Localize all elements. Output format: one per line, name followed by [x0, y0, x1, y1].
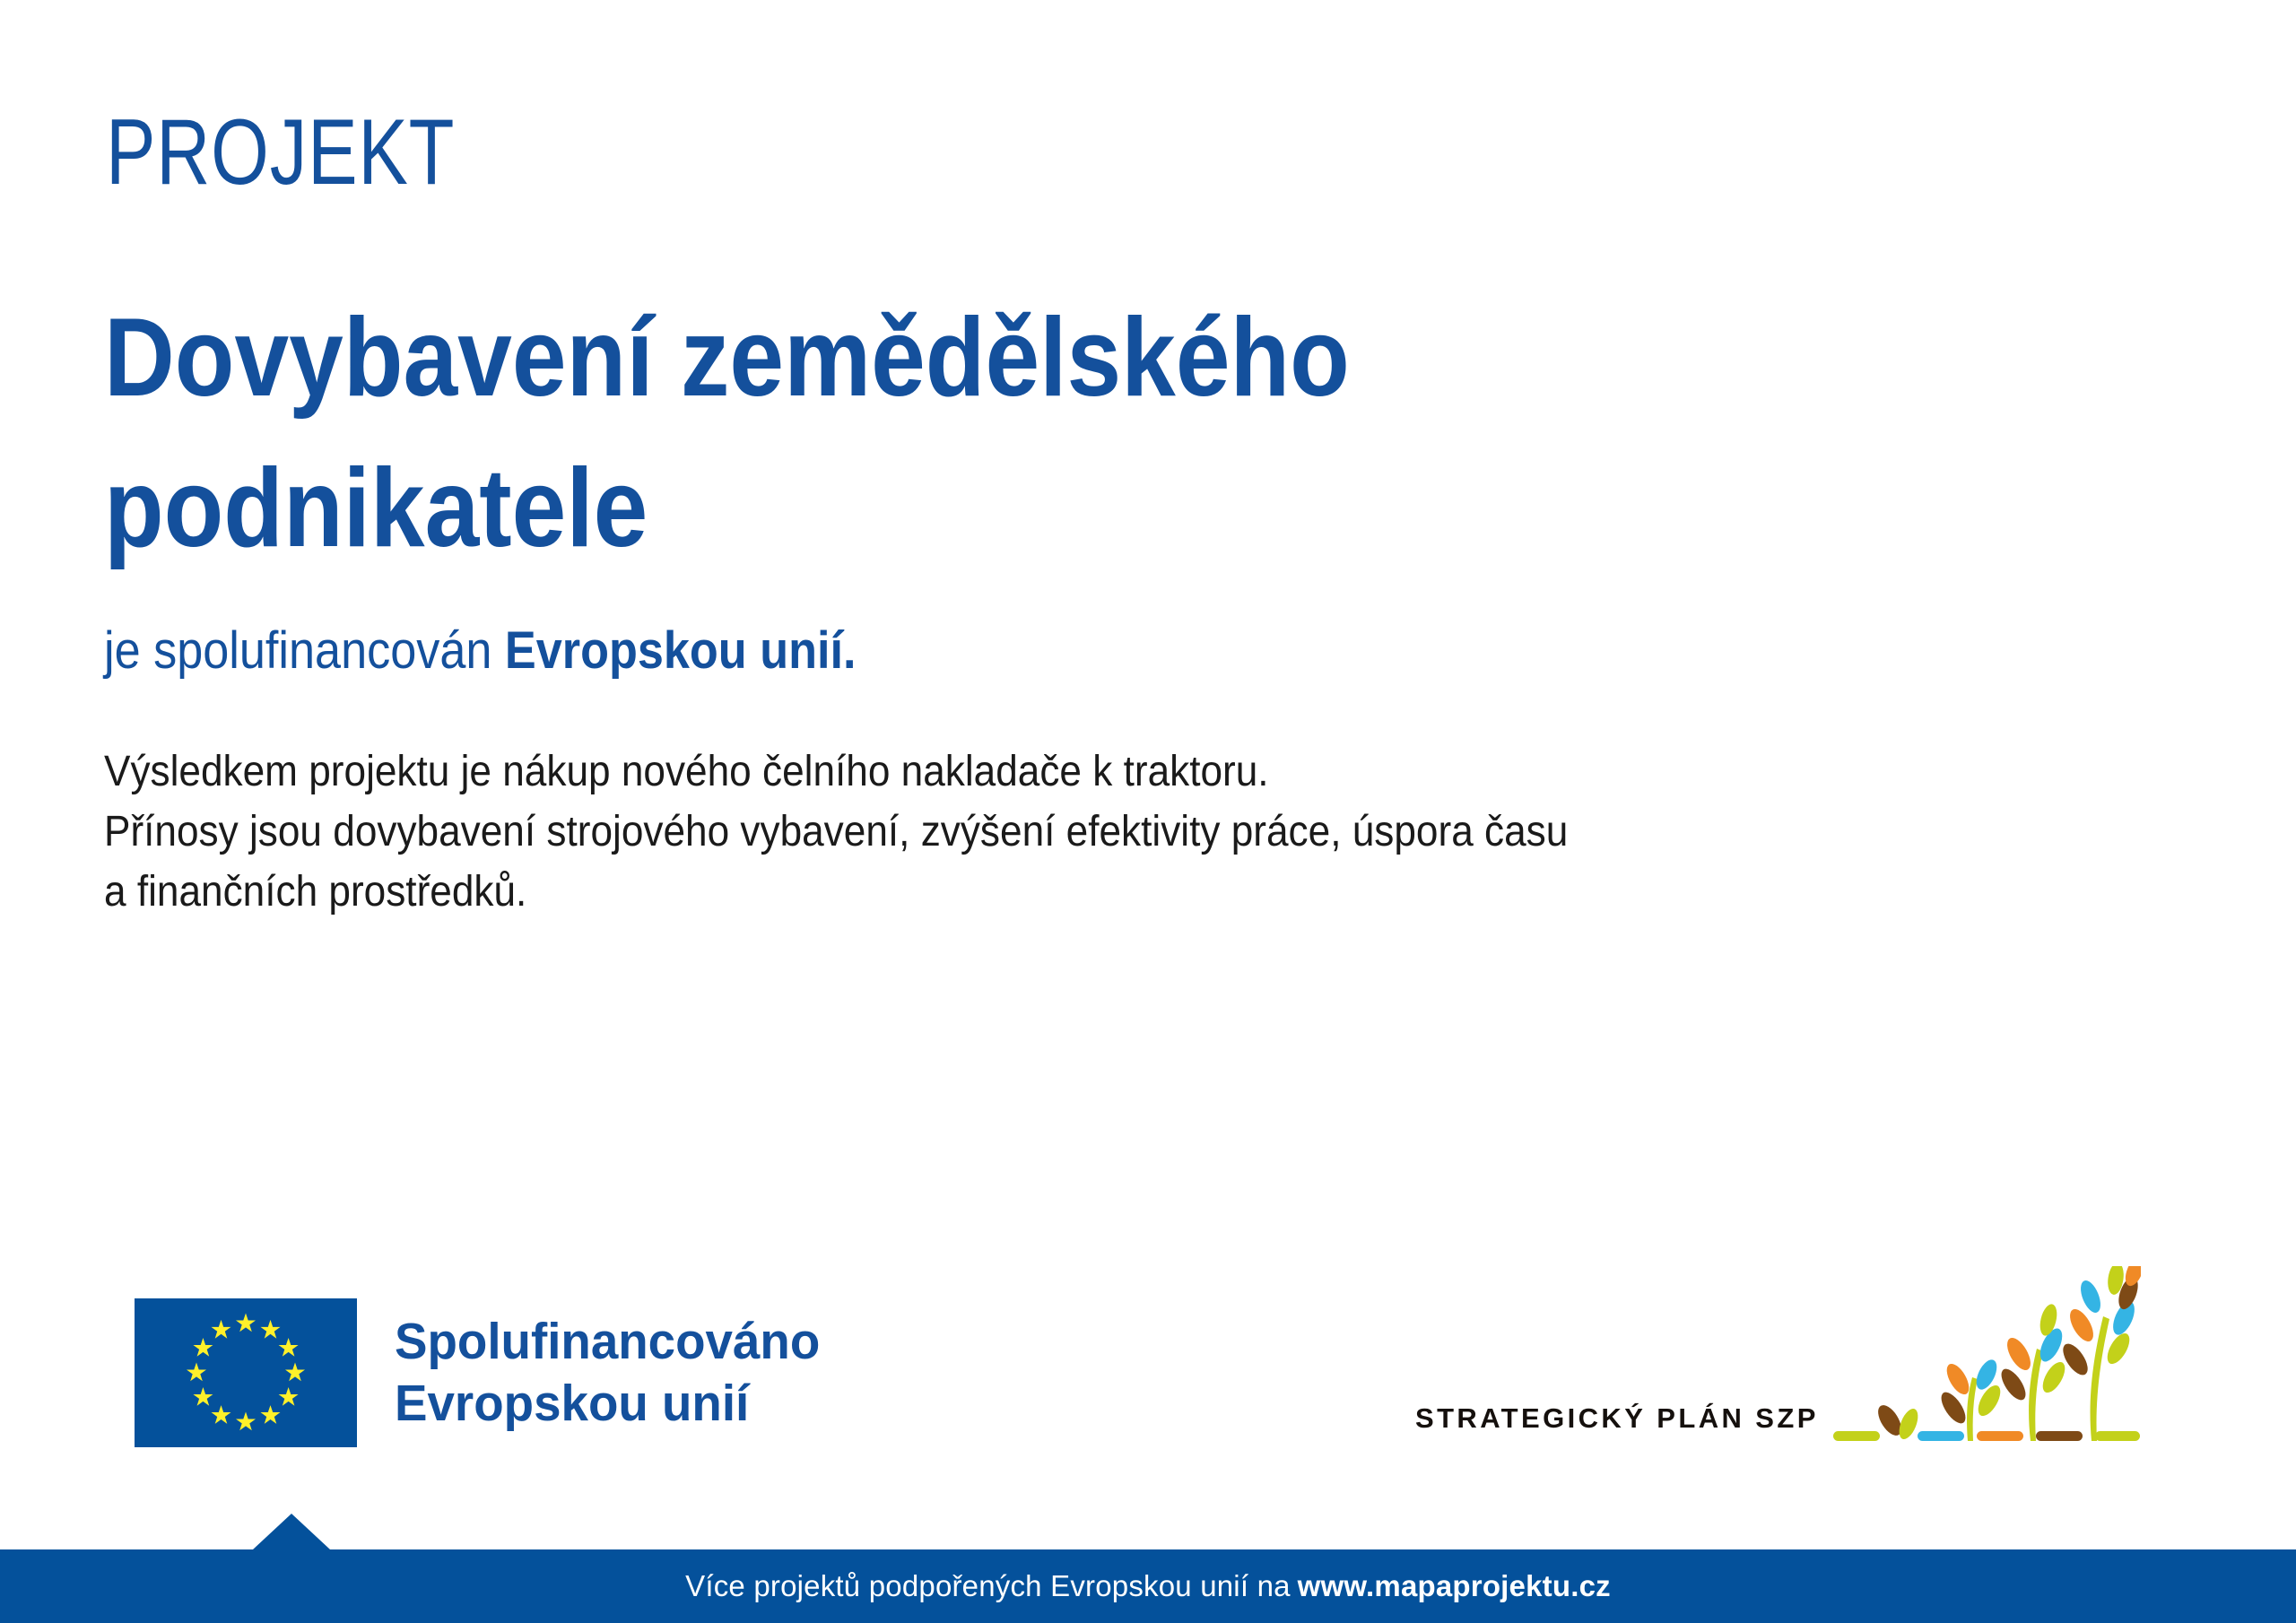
- footer-caption-prefix: Více projektů podpořených Evropskou unií…: [685, 1569, 1291, 1603]
- eu-flag-icon: [135, 1298, 357, 1447]
- page-eyebrow: PROJEKT: [106, 106, 455, 199]
- poster-canvas: PROJEKT Dovybavení zemědělského podnikat…: [0, 0, 2296, 1623]
- eu-cofunding-logo: Spolufinancováno Evropskou unií: [135, 1298, 838, 1447]
- project-description: Výsledkem projektu je nákup nového čelní…: [104, 742, 1919, 922]
- funding-statement-prefix: je spolufinancován: [104, 621, 505, 680]
- footer-caption: Více projektů podpořených Evropskou unií…: [0, 1549, 2296, 1623]
- szp-logo-label: STRATEGICKÝ PLÁN SZP: [1415, 1402, 1819, 1445]
- szp-strategic-plan-logo: STRATEGICKÝ PLÁN SZP: [1415, 1266, 2160, 1445]
- funding-statement: je spolufinancován Evropskou unií.: [104, 621, 856, 681]
- funding-statement-strong: Evropskou unií.: [505, 621, 857, 680]
- page-title: Dovybavení zemědělského podnikatele: [104, 282, 1761, 584]
- eu-cofunding-caption: Spolufinancováno Evropskou unií: [395, 1311, 820, 1435]
- growing-plants-icon: [1831, 1266, 2141, 1445]
- footer-notch-triangle: [253, 1514, 330, 1549]
- footer-website-link[interactable]: www.mapaprojektu.cz: [1298, 1569, 1611, 1603]
